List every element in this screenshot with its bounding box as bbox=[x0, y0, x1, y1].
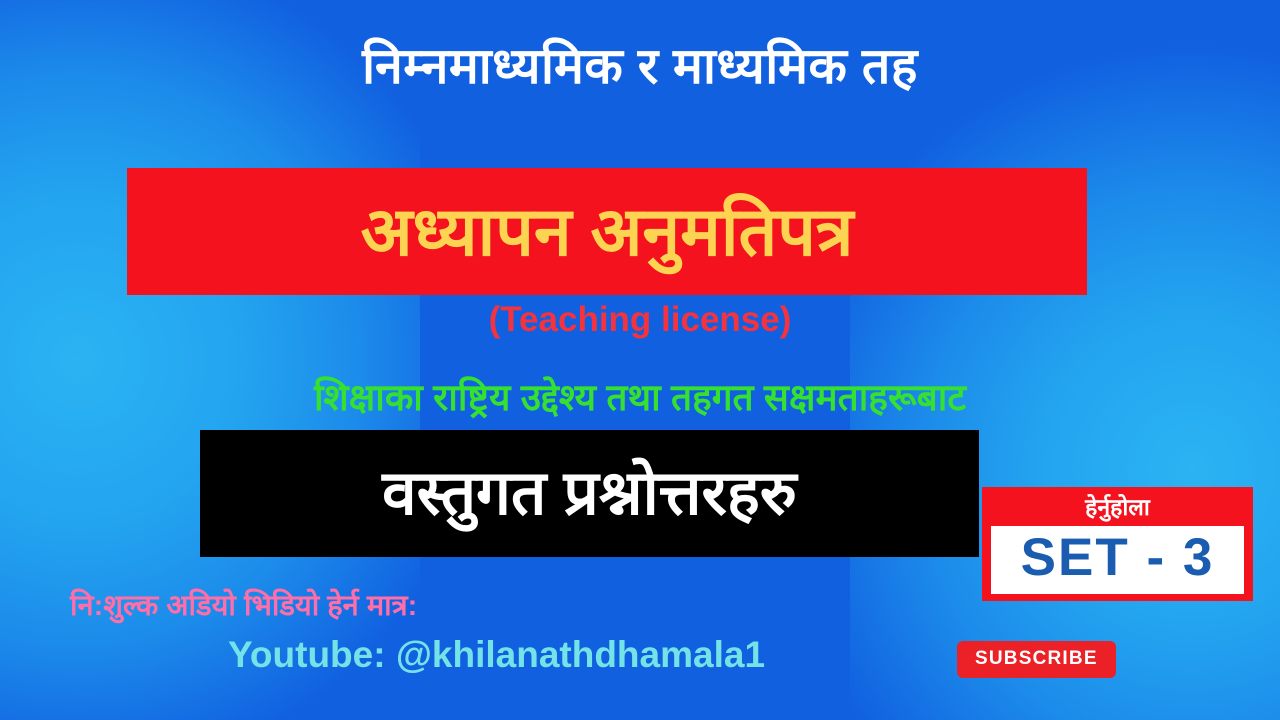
exam-title-subtitle-english: (Teaching license) bbox=[0, 300, 1280, 340]
source-description-line: शिक्षाका राष्ट्रिय उद्देश्य तथा तहगत सक्… bbox=[0, 370, 1280, 421]
set-number-text: SET - 3 bbox=[991, 530, 1244, 586]
youtube-handle-link[interactable]: Youtube: @khilanathdhamala1 bbox=[228, 634, 765, 676]
content-type-banner: वस्तुगत प्रश्नोत्तरहरु bbox=[200, 430, 979, 557]
free-access-note: नि:शुल्क अडियो भिडियो हेर्न मात्र: bbox=[70, 585, 417, 624]
set-badge: हेर्नुहोला SET - 3 bbox=[982, 487, 1253, 601]
subscribe-button[interactable]: SUBSCRIBE bbox=[957, 641, 1116, 678]
content-type-text: वस्तुगत प्रश्नोत्तरहरु bbox=[382, 463, 797, 525]
exam-title-banner: अध्यापन अनुमतिपत्र bbox=[127, 168, 1087, 295]
exam-title-text: अध्यापन अनुमतिपत्र bbox=[361, 198, 854, 266]
page-title-heading: निम्नमाध्यमिक र माध्यमिक तह bbox=[0, 38, 1280, 96]
poster-canvas: निम्नमाध्यमिक र माध्यमिक तह अध्यापन अनुम… bbox=[0, 0, 1280, 720]
set-badge-caption: हेर्नुहोला bbox=[982, 487, 1253, 526]
set-number-box: SET - 3 bbox=[991, 526, 1244, 594]
